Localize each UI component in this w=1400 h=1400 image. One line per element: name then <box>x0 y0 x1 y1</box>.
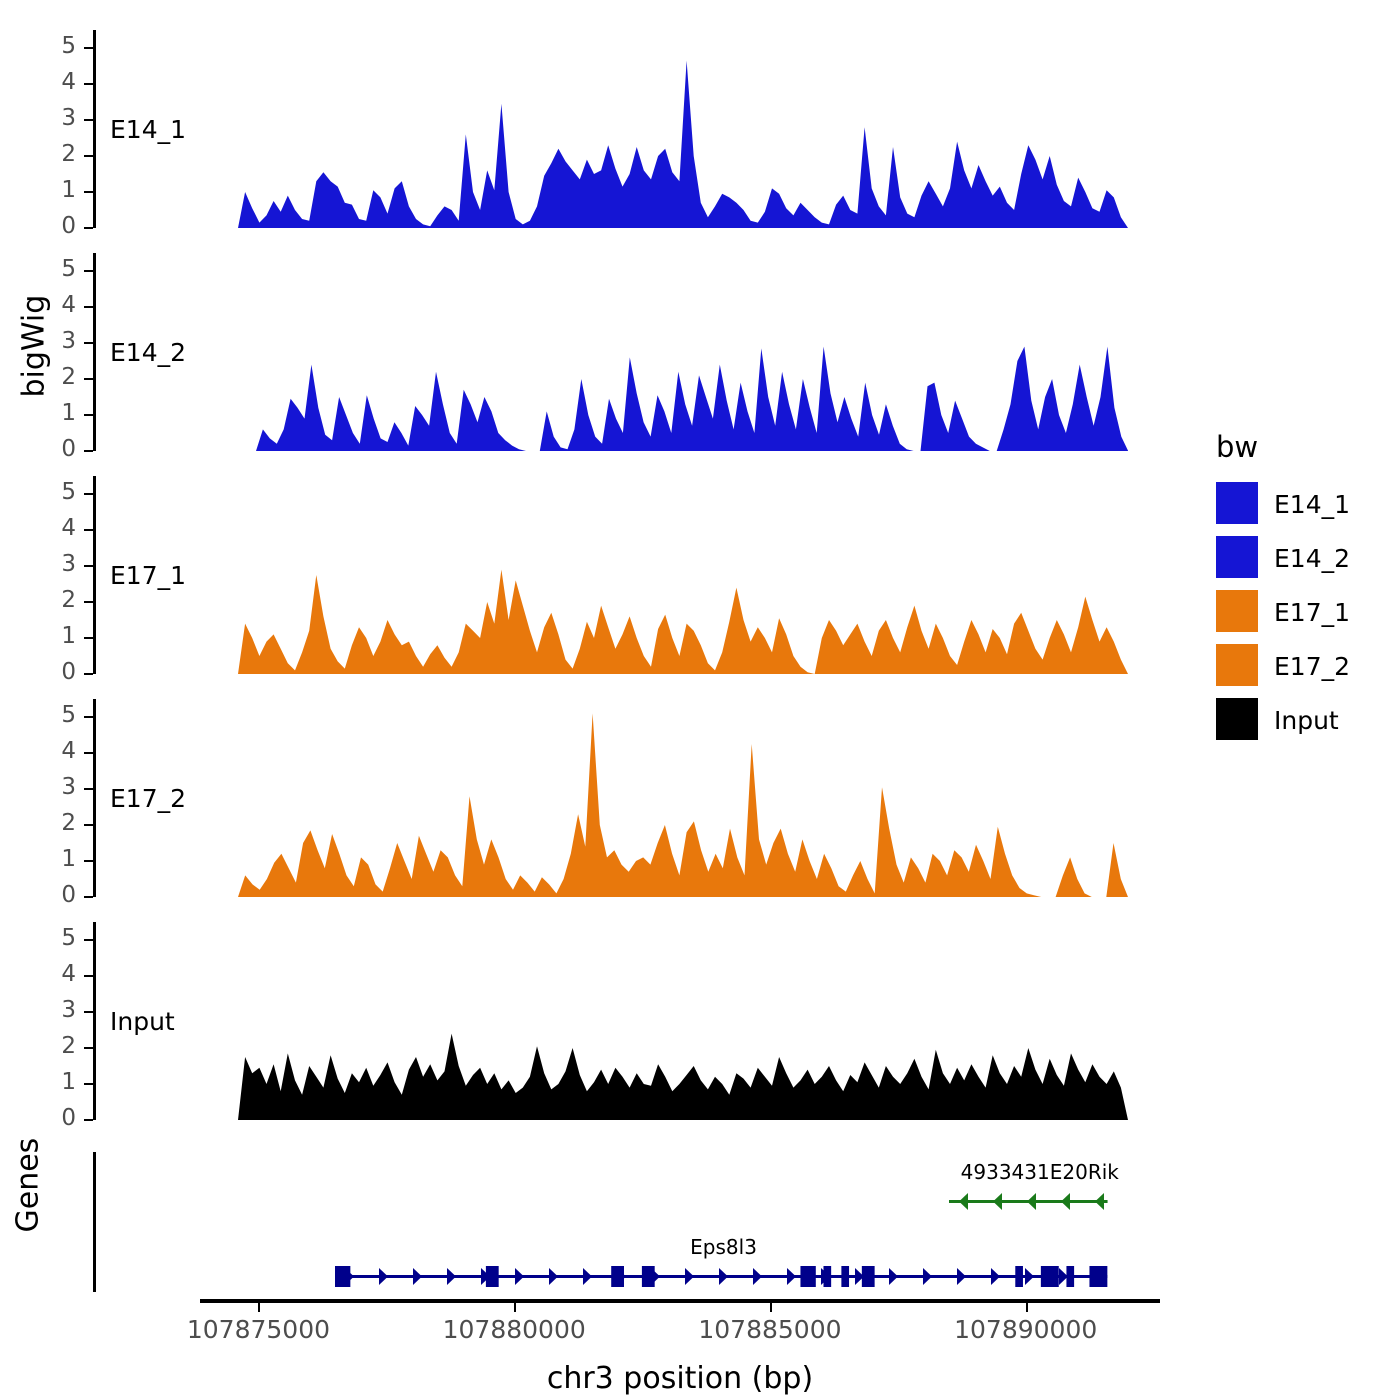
y-tick-label: 4 <box>32 515 76 541</box>
y-tick-label: 0 <box>32 659 76 685</box>
y-tick <box>84 601 93 603</box>
y-tick-label: 2 <box>32 141 76 167</box>
y-tick <box>84 529 93 531</box>
gene-model-eps8l3[interactable] <box>331 1261 1113 1293</box>
x-tick-label: 107875000 <box>168 1315 348 1344</box>
y-tick <box>84 975 93 977</box>
y-tick <box>84 227 93 229</box>
y-axis-line-e14_1 <box>93 30 96 228</box>
y-tick-label: 0 <box>32 882 76 908</box>
y-tick-label: 2 <box>32 587 76 613</box>
gene-model-4933431e20rik[interactable] <box>945 1186 1114 1218</box>
y-tick <box>84 119 93 121</box>
x-axis-title: chr3 position (bp) <box>400 1361 960 1396</box>
y-tick <box>84 1047 93 1049</box>
y-tick-label: 3 <box>32 551 76 577</box>
y-tick <box>84 1083 93 1085</box>
x-tick <box>770 1303 772 1312</box>
y-tick-label: 3 <box>32 105 76 131</box>
y-tick <box>84 191 93 193</box>
y-tick-label: 1 <box>32 623 76 649</box>
y-tick-label: 4 <box>32 292 76 318</box>
legend-swatch-e14_2[interactable] <box>1216 536 1258 578</box>
legend-label-input: Input <box>1274 706 1339 735</box>
y-tick <box>84 896 93 898</box>
y-tick <box>84 752 93 754</box>
x-tick <box>514 1303 516 1312</box>
y-tick-label: 5 <box>32 702 76 728</box>
track-label-e17_2: E17_2 <box>110 784 186 813</box>
legend-label-e14_2: E14_2 <box>1274 544 1350 573</box>
y-tick <box>84 306 93 308</box>
signal-track-e17_1 <box>238 476 1128 676</box>
y-tick-label: 1 <box>32 1069 76 1095</box>
legend-label-e17_1: E17_1 <box>1274 598 1350 627</box>
x-tick-label: 107880000 <box>424 1315 604 1344</box>
signal-track-e14_1 <box>238 30 1128 230</box>
y-tick <box>84 342 93 344</box>
y-axis-line-e14_2 <box>93 253 96 451</box>
y-tick <box>84 1011 93 1013</box>
y-axis-line-e17_2 <box>93 699 96 897</box>
y-tick <box>84 565 93 567</box>
y-tick-label: 5 <box>32 925 76 951</box>
y-tick-label: 3 <box>32 774 76 800</box>
y-tick <box>84 637 93 639</box>
y-tick <box>84 673 93 675</box>
legend-swatch-e17_1[interactable] <box>1216 590 1258 632</box>
x-axis-line <box>200 1299 1160 1303</box>
track-label-e14_1: E14_1 <box>110 115 186 144</box>
y-tick-label: 2 <box>32 364 76 390</box>
legend-swatch-e17_2[interactable] <box>1216 644 1258 686</box>
signal-track-input <box>238 922 1128 1122</box>
x-tick <box>1026 1303 1028 1312</box>
y-tick-label: 0 <box>32 1105 76 1131</box>
y-tick <box>84 83 93 85</box>
y-tick-label: 4 <box>32 738 76 764</box>
y-tick <box>84 824 93 826</box>
legend-title: bw <box>1216 430 1258 464</box>
signal-track-e14_2 <box>256 253 1128 453</box>
x-tick-label: 107885000 <box>680 1315 860 1344</box>
gene-label-4933431e20rik: 4933431E20Rik <box>961 1160 1119 1184</box>
y-tick-label: 1 <box>32 846 76 872</box>
y-tick <box>84 414 93 416</box>
y-tick <box>84 450 93 452</box>
legend-swatch-e14_1[interactable] <box>1216 482 1258 524</box>
track-label-e14_2: E14_2 <box>110 338 186 367</box>
gene-label-eps8l3: Eps8l3 <box>690 1235 757 1259</box>
y-tick <box>84 493 93 495</box>
y-tick <box>84 788 93 790</box>
legend-swatch-input[interactable] <box>1216 698 1258 740</box>
y-tick-label: 2 <box>32 810 76 836</box>
y-tick <box>84 155 93 157</box>
y-tick <box>84 47 93 49</box>
y-tick-label: 4 <box>32 69 76 95</box>
y-tick <box>84 860 93 862</box>
y-tick-label: 5 <box>32 479 76 505</box>
y-tick-label: 5 <box>32 256 76 282</box>
y-tick <box>84 378 93 380</box>
y-tick-label: 4 <box>32 961 76 987</box>
genes-axis-line <box>93 1152 96 1292</box>
y-tick-label: 2 <box>32 1033 76 1059</box>
y-tick <box>84 1119 93 1121</box>
legend-label-e14_1: E14_1 <box>1274 490 1350 519</box>
y-axis-line-e17_1 <box>93 476 96 674</box>
y-tick-label: 0 <box>32 436 76 462</box>
y-tick <box>84 270 93 272</box>
y-tick-label: 3 <box>32 997 76 1023</box>
y-tick-label: 3 <box>32 328 76 354</box>
x-tick <box>258 1303 260 1312</box>
track-label-input: Input <box>110 1007 175 1036</box>
y-tick-label: 1 <box>32 177 76 203</box>
y-tick <box>84 939 93 941</box>
y-tick-label: 1 <box>32 400 76 426</box>
x-tick-label: 107890000 <box>936 1315 1116 1344</box>
genes-axis-label: Genes <box>11 1193 46 1233</box>
legend-label-e17_2: E17_2 <box>1274 652 1350 681</box>
y-tick <box>84 716 93 718</box>
signal-track-e17_2 <box>238 699 1128 899</box>
track-label-e17_1: E17_1 <box>110 561 186 590</box>
y-tick-label: 0 <box>32 213 76 239</box>
y-axis-line-input <box>93 922 96 1120</box>
y-tick-label: 5 <box>32 33 76 59</box>
